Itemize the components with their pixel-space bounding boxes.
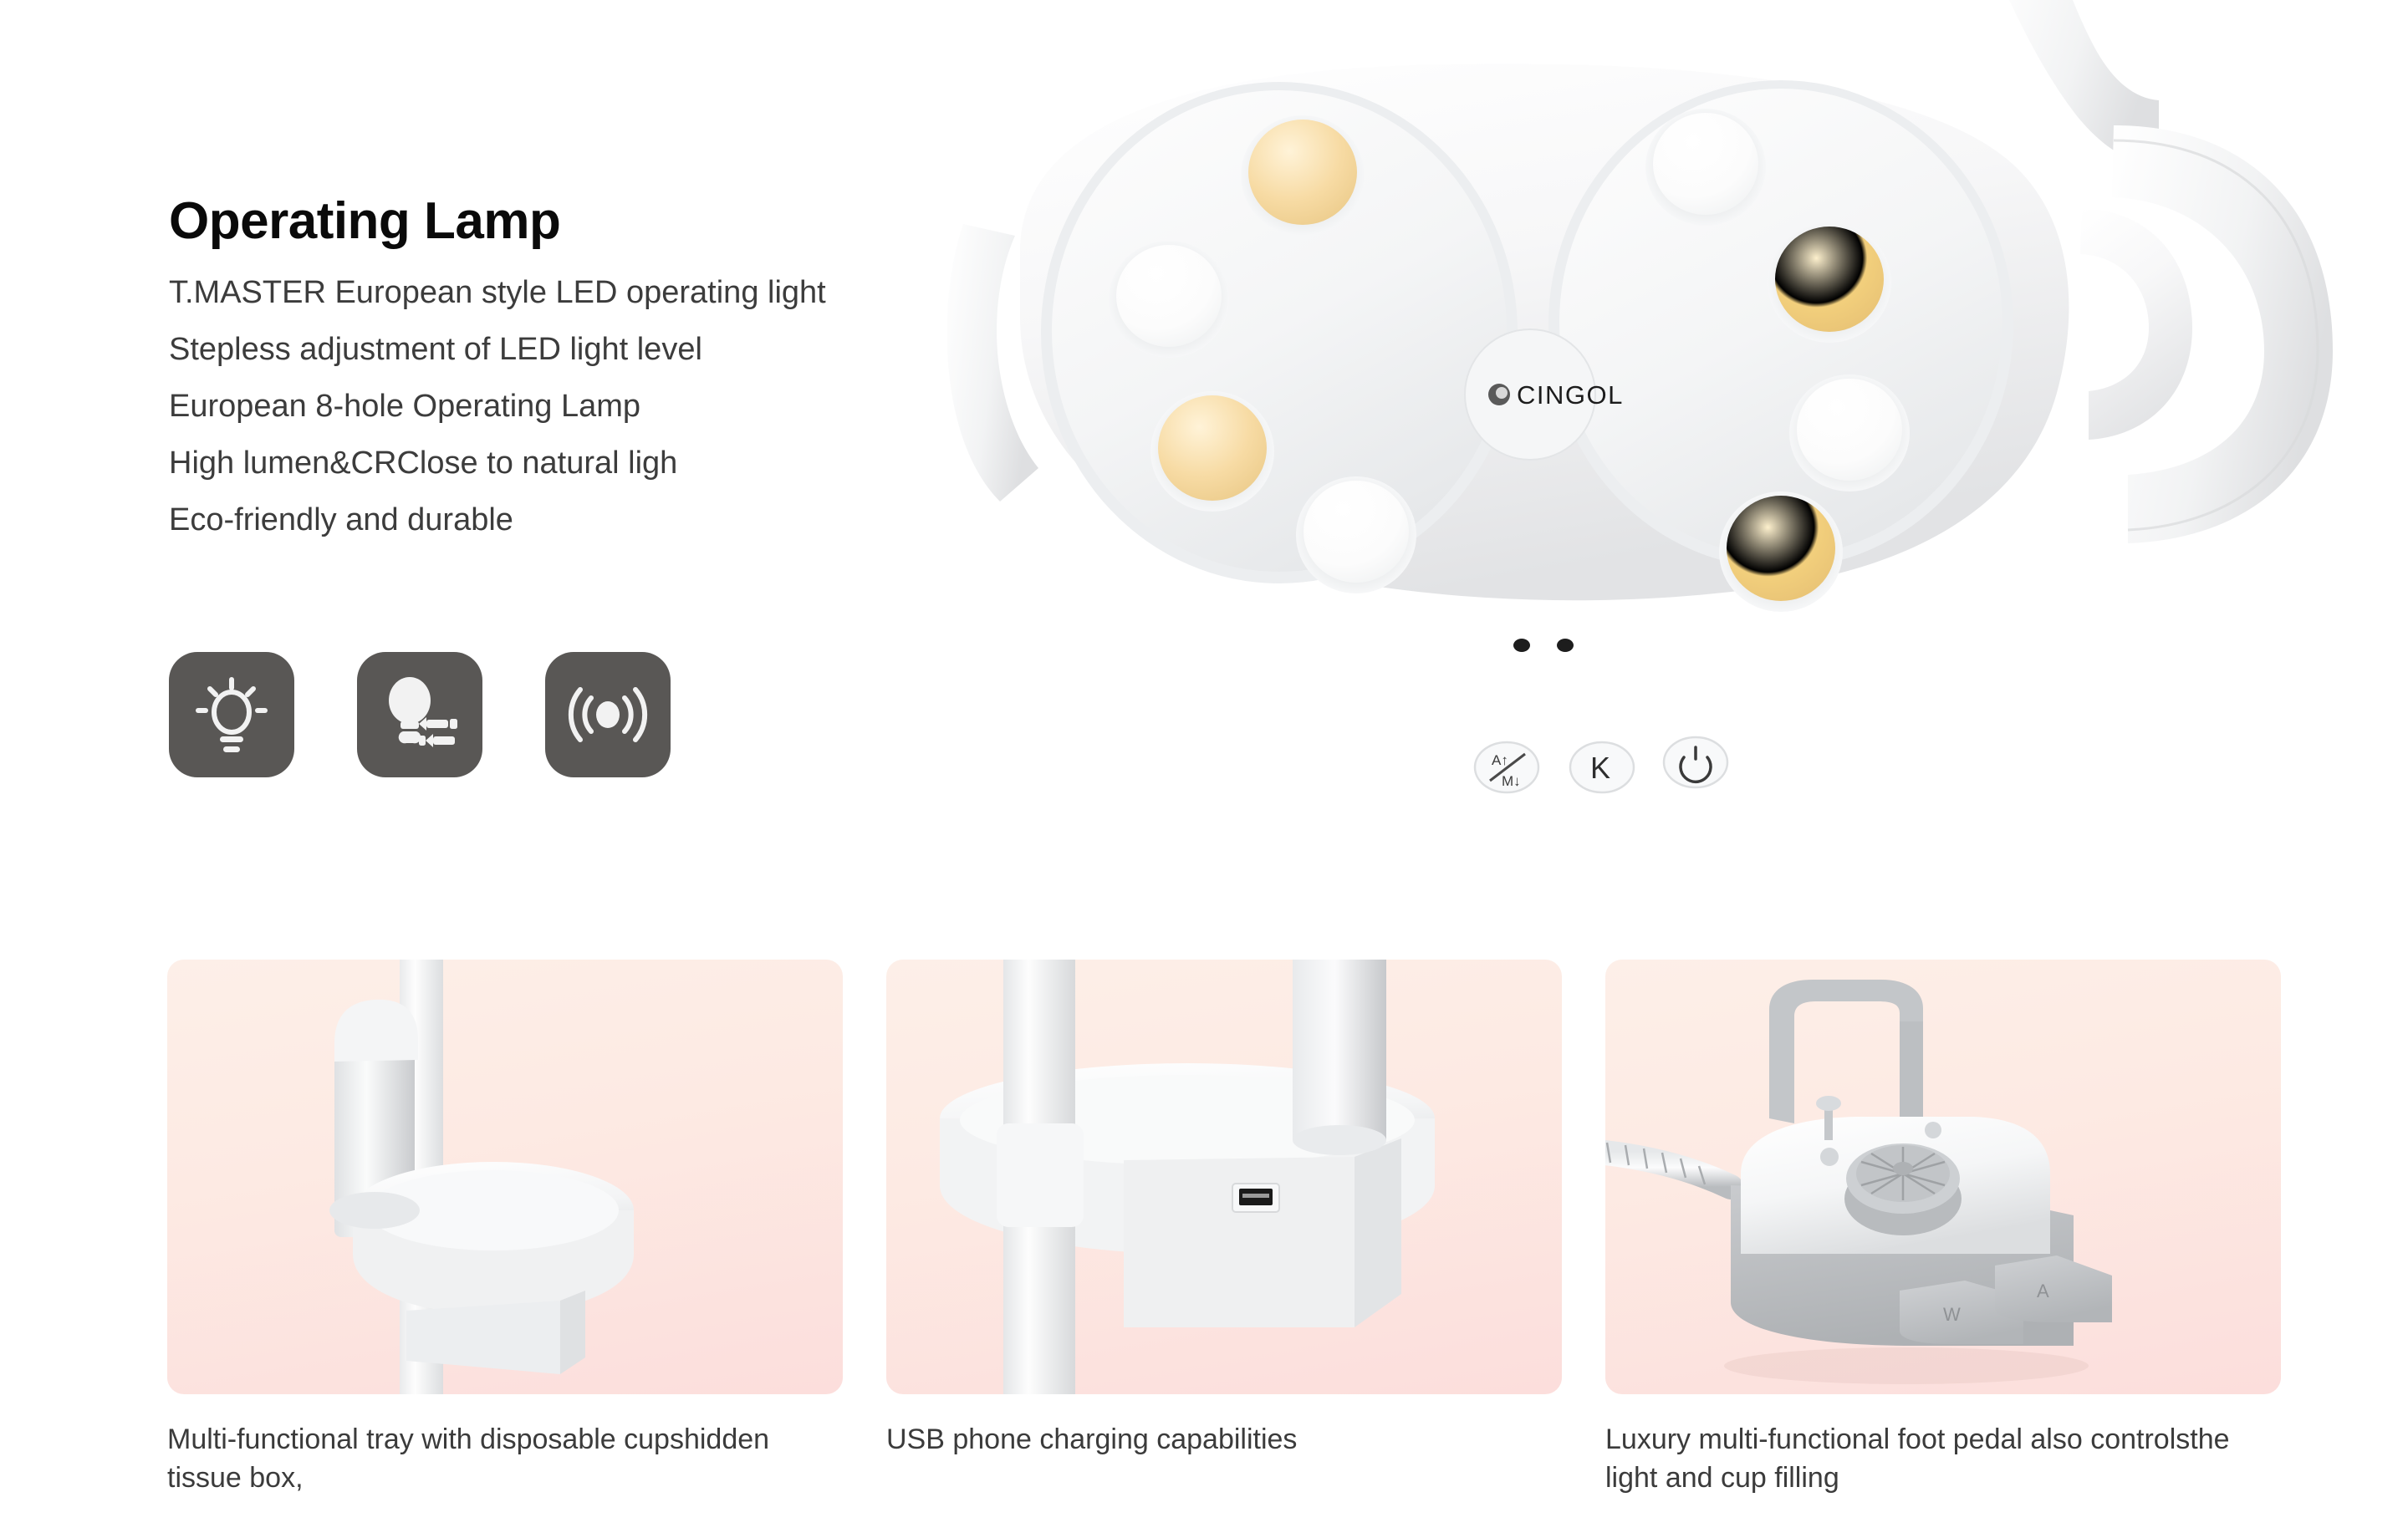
led-right-top-cool	[1653, 113, 1758, 215]
led-right-upper-warm	[1775, 227, 1884, 332]
led-left-bottom-cool	[1303, 481, 1409, 583]
lamp-handle-inner	[2080, 209, 2192, 440]
panel-foot-pedal[interactable]: W A	[1605, 960, 2281, 1394]
caption-usb-charging: USB phone charging capabilities	[886, 1421, 1562, 1497]
bulb-slider-settings-icon	[378, 673, 462, 756]
brand-label: CINGOL	[1517, 380, 1624, 410]
led-left-upper-cool	[1116, 245, 1222, 347]
led-left-lower-warm	[1158, 395, 1267, 501]
cup-dispenser-cap	[334, 1000, 418, 1062]
screw-left	[1820, 1148, 1839, 1166]
usb-charging-illustration	[886, 960, 1562, 1394]
pedal-reflection	[1724, 1347, 2089, 1384]
brightness-down-label: M↓	[1502, 773, 1521, 789]
cup-column-base	[1293, 1125, 1386, 1155]
panel-tray-cup-dispenser[interactable]	[167, 960, 843, 1394]
caption-foot-pedal: Luxury multi-functional foot pedal also …	[1605, 1421, 2281, 1497]
right-pod-face	[1559, 89, 2002, 557]
dial-center	[1893, 1162, 1913, 1175]
brightness-up-label: A↑	[1492, 752, 1508, 768]
page-title: Operating Lamp	[169, 194, 1047, 248]
power-button[interactable]	[1664, 737, 1727, 787]
feature-icon-badge-3	[545, 652, 671, 777]
feature-line-4: High lumen&CRClose to natural ligh	[169, 447, 1047, 479]
panel-captions-row: Multi-functional tray with disposable cu…	[167, 1421, 2283, 1497]
cup-column	[1293, 960, 1386, 1140]
flexible-hose	[1605, 1152, 1731, 1187]
foot-pedal-illustration: W A	[1605, 960, 2281, 1394]
led-left-top-warm	[1248, 120, 1357, 225]
pedal-right[interactable]	[1995, 1255, 2112, 1322]
pin-knob[interactable]	[1816, 1096, 1841, 1111]
feature-panels-row: W A	[167, 960, 2283, 1394]
cup-slot	[329, 1192, 420, 1229]
feature-line-5: Eco-friendly and durable	[169, 504, 1047, 536]
motion-sensor-waves-icon	[566, 673, 650, 756]
under-tray-housing	[1124, 1157, 1354, 1327]
lamp-c-handle	[2112, 125, 2333, 543]
caption-tray-cup-dispenser: Multi-functional tray with disposable cu…	[167, 1421, 843, 1497]
handle-post	[1900, 1021, 1923, 1127]
feature-icon-badge-1	[169, 652, 294, 777]
pedal-left-label: W	[1943, 1304, 1961, 1325]
brand-mark-inner	[1496, 387, 1508, 399]
led-right-bottom-warm	[1727, 496, 1835, 601]
feature-line-1: T.MASTER European style LED operating li…	[169, 277, 1047, 308]
tissue-box-side	[560, 1291, 585, 1374]
screw-right	[1925, 1122, 1941, 1138]
pole-joint	[997, 1123, 1084, 1227]
feature-icon-badge-2	[357, 652, 482, 777]
tray-cup-dispenser-illustration	[167, 960, 843, 1394]
housing-side	[1354, 1138, 1401, 1327]
color-temp-label: K	[1590, 751, 1610, 785]
feature-line-3: European 8-hole Operating Lamp	[169, 390, 1047, 422]
usb-port-contact	[1242, 1194, 1269, 1198]
product-copy-block: Operating Lamp T.MASTER European style L…	[169, 194, 1047, 561]
pin-stem	[1824, 1107, 1833, 1140]
panel-usb-charging[interactable]	[886, 960, 1562, 1394]
light-bulb-rays-icon	[190, 673, 273, 756]
hero-section: Operating Lamp T.MASTER European style L…	[0, 0, 2408, 936]
sensor-dot-1	[1513, 639, 1530, 652]
sensor-dot-2	[1557, 639, 1574, 652]
feature-icon-row	[169, 652, 671, 777]
led-right-lower-cool	[1797, 379, 1902, 481]
operating-lamp-illustration: CINGOL A↑ M↓ K	[945, 0, 2408, 903]
pedal-right-label: A	[2037, 1281, 2049, 1301]
feature-line-2: Stepless adjustment of LED light level	[169, 334, 1047, 365]
